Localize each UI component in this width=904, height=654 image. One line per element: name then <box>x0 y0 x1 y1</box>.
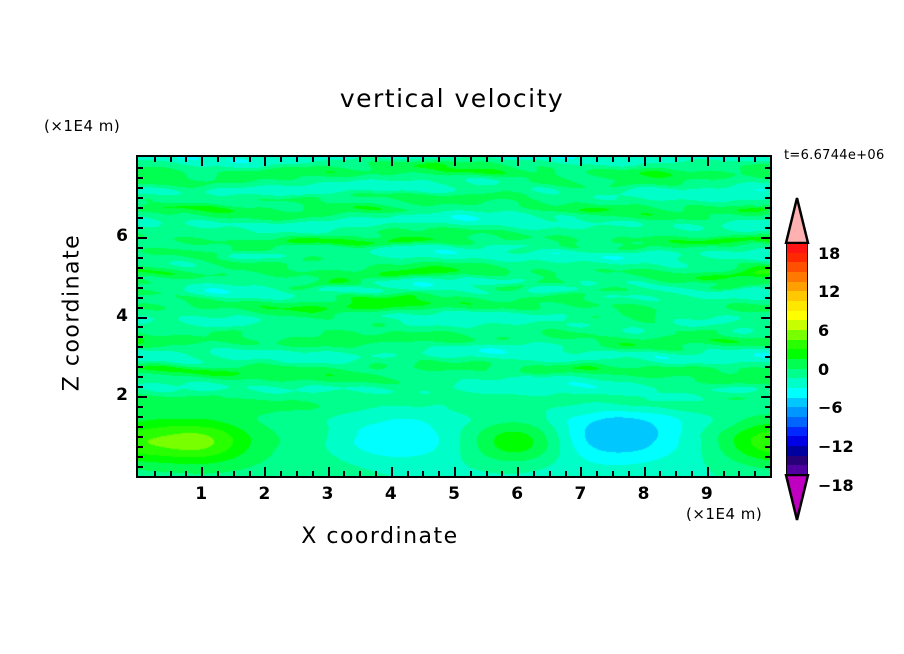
x-tick <box>359 471 361 476</box>
y-axis-units-label: (×1E4 m) <box>44 117 120 135</box>
x-tick <box>170 157 172 162</box>
x-tick <box>754 471 756 476</box>
x-tick <box>391 467 393 476</box>
y-tick <box>765 287 770 289</box>
y-tick <box>765 307 770 309</box>
y-tick <box>765 277 770 279</box>
x-tick <box>738 157 740 162</box>
colorbar-tick-label: −6 <box>818 398 843 417</box>
y-tick <box>138 356 143 358</box>
x-tick <box>217 471 219 476</box>
y-tick <box>138 307 143 309</box>
x-tick <box>454 467 456 476</box>
y-tick <box>138 167 143 169</box>
y-tick <box>765 207 770 209</box>
y-tick <box>138 207 143 209</box>
y-tick-label: 4 <box>102 306 128 326</box>
x-tick <box>723 157 725 162</box>
x-tick <box>517 157 519 166</box>
x-tick-label: 4 <box>376 484 406 504</box>
x-tick <box>501 471 503 476</box>
y-tick <box>765 356 770 358</box>
x-tick <box>675 471 677 476</box>
y-tick <box>765 426 770 428</box>
x-tick-label: 1 <box>186 484 216 504</box>
y-tick <box>138 177 143 179</box>
x-tick <box>375 471 377 476</box>
velocity-field-heatmap <box>138 157 770 476</box>
x-tick <box>438 157 440 162</box>
time-annotation: t=6.6744e+06 <box>784 148 885 163</box>
x-tick <box>375 157 377 162</box>
x-tick <box>343 471 345 476</box>
x-tick <box>644 467 646 476</box>
x-tick <box>596 157 598 162</box>
x-tick <box>422 157 424 162</box>
x-tick-label: 7 <box>565 484 595 504</box>
colorbar-tick-label: −18 <box>818 476 854 495</box>
x-tick <box>438 471 440 476</box>
x-tick <box>612 157 614 162</box>
x-tick-label: 2 <box>249 484 279 504</box>
x-tick <box>264 467 266 476</box>
x-tick <box>723 471 725 476</box>
colorbar-tick-label: 6 <box>818 321 829 340</box>
y-tick <box>761 396 770 398</box>
y-tick <box>765 446 770 448</box>
x-tick-label: 8 <box>629 484 659 504</box>
x-tick <box>486 471 488 476</box>
x-tick <box>201 467 203 476</box>
x-tick <box>391 157 393 166</box>
y-tick <box>765 177 770 179</box>
x-tick <box>249 157 251 162</box>
x-tick <box>170 471 172 476</box>
x-tick <box>691 471 693 476</box>
y-tick <box>138 466 143 468</box>
x-tick <box>565 471 567 476</box>
x-tick <box>470 157 472 162</box>
colorbar <box>786 243 808 475</box>
x-tick <box>565 157 567 162</box>
y-tick <box>138 406 143 408</box>
colorbar-tick-label: 18 <box>818 244 840 263</box>
y-tick <box>765 197 770 199</box>
x-tick <box>549 471 551 476</box>
colorbar-over-arrow <box>779 196 815 244</box>
y-tick <box>138 416 143 418</box>
x-tick <box>407 471 409 476</box>
y-tick <box>765 167 770 169</box>
x-tick <box>596 471 598 476</box>
y-tick <box>765 436 770 438</box>
y-tick <box>138 326 143 328</box>
x-tick <box>612 471 614 476</box>
x-tick <box>280 471 282 476</box>
x-tick <box>233 157 235 162</box>
x-tick <box>628 471 630 476</box>
y-tick <box>138 436 143 438</box>
x-tick <box>312 471 314 476</box>
x-tick <box>691 157 693 162</box>
x-tick-label: 5 <box>439 484 469 504</box>
x-tick <box>233 471 235 476</box>
y-tick <box>765 267 770 269</box>
y-tick <box>765 386 770 388</box>
y-tick <box>765 366 770 368</box>
y-tick <box>765 376 770 378</box>
x-tick <box>659 471 661 476</box>
x-tick-label: 6 <box>502 484 532 504</box>
y-tick <box>138 287 143 289</box>
x-tick <box>738 471 740 476</box>
x-tick <box>343 157 345 162</box>
y-tick <box>138 267 143 269</box>
y-tick <box>765 406 770 408</box>
x-tick <box>185 157 187 162</box>
y-tick <box>138 366 143 368</box>
figure-canvas: vertical velocity (×1E4 m) t=6.6744e+06 … <box>0 0 904 654</box>
x-axis-units-label: (×1E4 m) <box>686 505 762 523</box>
x-tick <box>707 467 709 476</box>
y-tick <box>138 317 147 319</box>
y-tick <box>138 277 143 279</box>
y-tick <box>138 237 147 239</box>
y-tick <box>138 297 143 299</box>
x-tick <box>264 157 266 166</box>
x-tick <box>533 471 535 476</box>
x-tick <box>517 467 519 476</box>
y-tick <box>761 317 770 319</box>
x-tick <box>707 157 709 166</box>
y-tick <box>765 227 770 229</box>
x-tick-label: 9 <box>692 484 722 504</box>
y-tick <box>765 187 770 189</box>
x-tick <box>359 157 361 162</box>
y-tick <box>138 247 143 249</box>
y-tick <box>765 217 770 219</box>
x-tick <box>217 157 219 162</box>
y-tick <box>765 247 770 249</box>
y-tick <box>138 336 143 338</box>
x-tick <box>454 157 456 166</box>
colorbar-under-arrow <box>779 474 815 522</box>
y-tick <box>765 257 770 259</box>
y-tick <box>138 257 143 259</box>
x-tick <box>533 157 535 162</box>
y-tick <box>138 456 143 458</box>
x-tick <box>280 157 282 162</box>
y-tick <box>138 217 143 219</box>
y-tick <box>138 426 143 428</box>
x-tick <box>754 157 756 162</box>
y-tick <box>765 336 770 338</box>
y-tick <box>138 197 143 199</box>
x-tick <box>154 471 156 476</box>
x-tick <box>659 157 661 162</box>
y-tick <box>765 466 770 468</box>
y-axis-title: Z coordinate <box>60 203 85 423</box>
x-tick <box>407 157 409 162</box>
x-tick <box>328 467 330 476</box>
plot-area <box>136 155 772 478</box>
y-tick <box>765 326 770 328</box>
y-tick <box>138 376 143 378</box>
y-tick <box>761 237 770 239</box>
x-tick <box>154 157 156 162</box>
y-tick-label: 2 <box>102 385 128 405</box>
x-tick <box>501 157 503 162</box>
x-tick <box>312 157 314 162</box>
x-tick <box>249 471 251 476</box>
y-tick <box>138 446 143 448</box>
colorbar-tick-label: 12 <box>818 282 840 301</box>
x-tick <box>628 157 630 162</box>
page-title: vertical velocity <box>0 84 904 113</box>
y-tick <box>138 227 143 229</box>
y-tick <box>765 416 770 418</box>
y-tick <box>765 297 770 299</box>
x-tick-label: 3 <box>313 484 343 504</box>
x-tick <box>328 157 330 166</box>
x-tick <box>201 157 203 166</box>
x-tick <box>580 157 582 166</box>
y-tick <box>138 396 147 398</box>
y-tick <box>765 456 770 458</box>
y-tick <box>765 346 770 348</box>
x-tick <box>296 471 298 476</box>
y-tick <box>138 187 143 189</box>
x-tick <box>644 157 646 166</box>
x-tick <box>185 471 187 476</box>
colorbar-tick-label: 0 <box>818 360 829 379</box>
x-tick <box>486 157 488 162</box>
y-tick-label: 6 <box>102 226 128 246</box>
x-tick <box>422 471 424 476</box>
x-tick <box>549 157 551 162</box>
y-tick <box>138 386 143 388</box>
x-tick <box>580 467 582 476</box>
colorbar-tick-label: −12 <box>818 437 854 456</box>
x-tick <box>675 157 677 162</box>
x-tick <box>470 471 472 476</box>
x-axis-title: X coordinate <box>0 524 760 549</box>
y-tick <box>138 346 143 348</box>
x-tick <box>296 157 298 162</box>
